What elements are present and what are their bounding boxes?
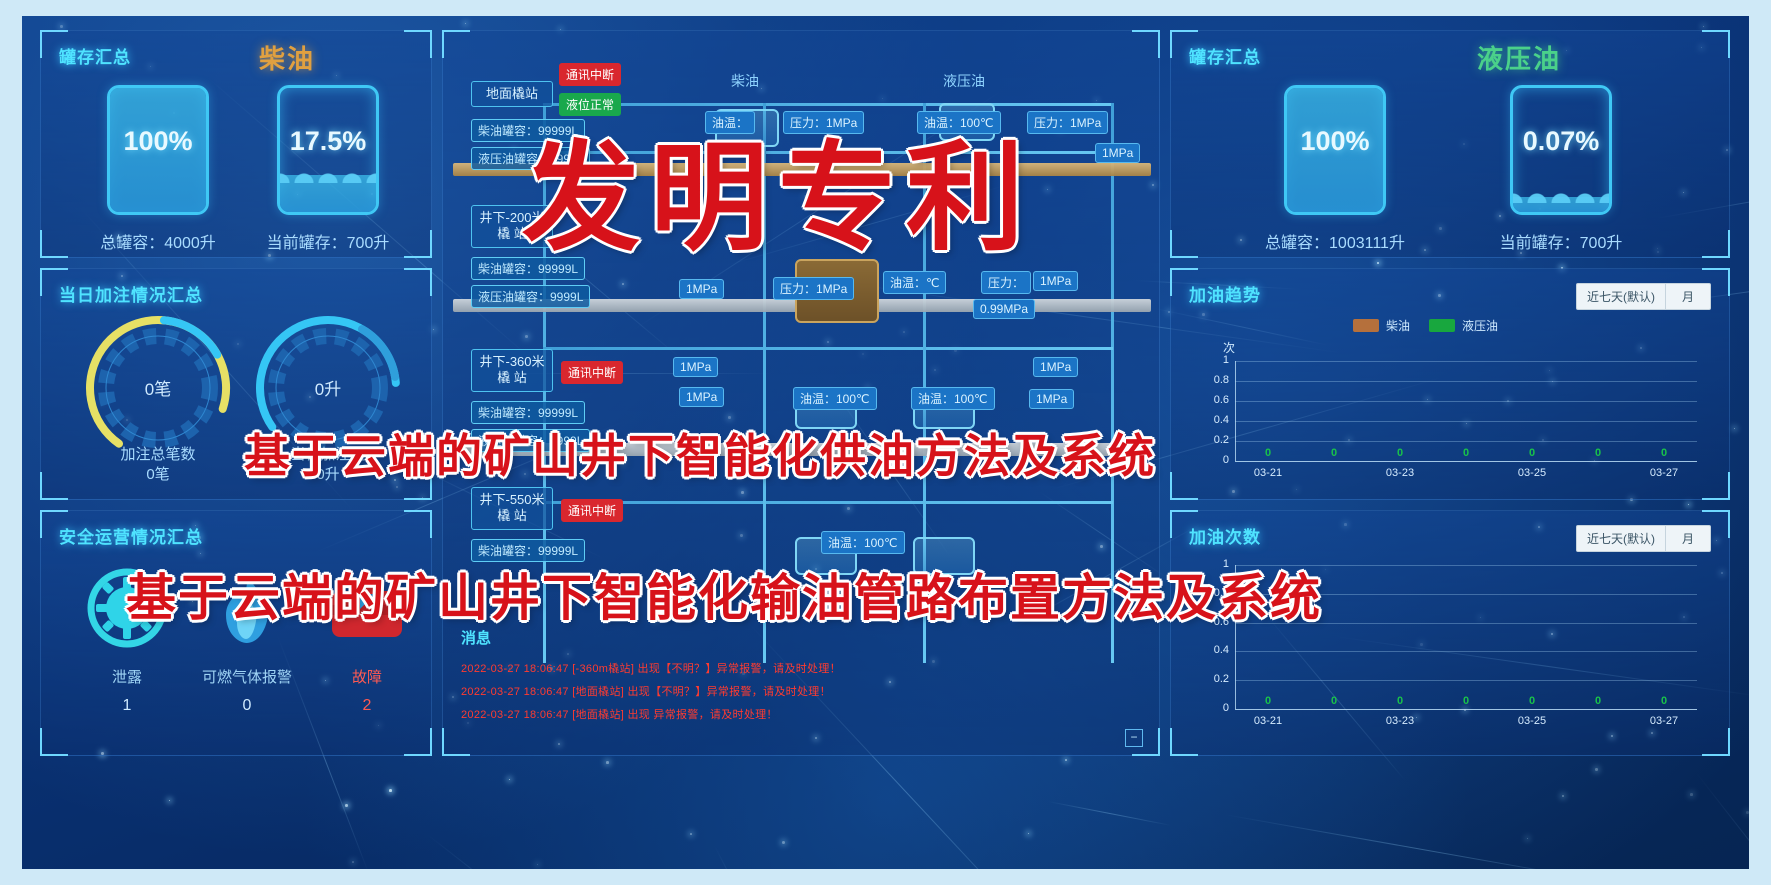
data-point-label: 0 [1454, 695, 1478, 707]
meter-6: 压力：1MPa [773, 277, 854, 300]
panel-title: 当日加注情况汇总 [59, 281, 203, 306]
safety-label: 泄露 [67, 666, 187, 687]
gauge-value: 0笔 [83, 375, 233, 400]
trend-legend: 柴油 液压油 [1353, 317, 1498, 334]
message-line: 2022-03-27 18:06:47 [地面橇站] 出现 异常报警，请及时处理… [461, 706, 1141, 722]
message-panel-title: 消息 [461, 627, 1141, 648]
gridline [1235, 651, 1697, 652]
legend-label-hydraulic: 液压油 [1462, 317, 1498, 334]
tank-shape: 100% [1284, 85, 1386, 215]
y-axis-tick: 0 [1191, 702, 1229, 714]
gauge-value: 0升 [253, 375, 403, 400]
station-2-status-0: 通讯中断 [561, 361, 623, 384]
x-axis-tick: 03-21 [1242, 715, 1294, 727]
x-axis-tick: 03-25 [1506, 715, 1558, 727]
tank-gauge-current: 0.07% 当前罐存：700升 [1461, 85, 1661, 253]
data-point-label: 0 [1322, 447, 1346, 459]
x-axis-line [1235, 461, 1697, 462]
tank-gauge-capacity: 100% 总罐容：4000升 [83, 85, 233, 253]
meter-3: 压力：1MPa [1027, 111, 1108, 134]
tank-fill [280, 175, 376, 212]
right-tank-summary-panel: 罐存汇总 液压油 100% 总罐容：1003111升 0.07% 当前罐存：70… [1170, 30, 1730, 258]
safety-value: 2 [307, 697, 427, 715]
x-axis-tick: 03-27 [1638, 715, 1690, 727]
y-axis-tick: 0 [1191, 454, 1229, 466]
station-0-status-0: 通讯中断 [559, 63, 621, 86]
tank-shape: 17.5% [277, 85, 379, 215]
range-option-month[interactable]: 月 [1666, 526, 1710, 551]
y-axis-tick: 0.8 [1191, 374, 1229, 386]
data-point-label: 0 [1322, 695, 1346, 707]
legend-swatch-hydraulic [1429, 319, 1455, 332]
station-name: 井下-360米 [479, 354, 544, 369]
x-axis-tick: 03-21 [1242, 467, 1294, 479]
trend-range-selector[interactable]: 近七天(默认) 月 [1576, 283, 1711, 310]
panel-title: 加油趋势 [1189, 281, 1261, 306]
gridline [1235, 421, 1697, 422]
tank-shape: 100% [107, 85, 209, 215]
fill-gauge-count-caption: 加注总笔数 0笔 [83, 445, 233, 486]
data-point-label: 0 [1652, 695, 1676, 707]
tank-percent: 100% [110, 126, 206, 157]
data-point-label: 0 [1256, 447, 1280, 459]
station-name: 井下-550米 [479, 492, 544, 507]
y-axis-tick: 0.6 [1191, 394, 1229, 406]
flow-label-diesel: 柴油 [731, 71, 759, 91]
data-point-label: 0 [1652, 447, 1676, 459]
caption-line-1: 加注总笔数 [83, 445, 233, 465]
panel-title: 罐存汇总 [1189, 43, 1261, 68]
data-point-label: 0 [1454, 447, 1478, 459]
tank-shape: 0.07% [1510, 85, 1612, 215]
y-axis-tick: 0.2 [1191, 673, 1229, 685]
gridline [1235, 441, 1697, 442]
safety-value: 0 [187, 697, 307, 715]
meter-12: 1MPa [679, 387, 724, 407]
meter-9: 0.99MPa [973, 299, 1035, 319]
data-point-label: 0 [1256, 695, 1280, 707]
tank-percent: 0.07% [1513, 126, 1609, 157]
station-name: 地面橇站 [486, 86, 538, 101]
left-safety-panel: 安全运营情况汇总 泄露 1 [40, 510, 432, 756]
message-line: 2022-03-27 18:06:47 [地面橇站] 出现【不明？】异常报警，请… [461, 683, 1141, 699]
gridline [1235, 680, 1697, 681]
station-1-readout-1: 液压油罐容：9999L [471, 285, 590, 308]
right-count-panel: 加油次数 近七天(默认) 月 10.80.60.40.20000000003-2… [1170, 510, 1730, 756]
right-trend-panel: 加油趋势 近七天(默认) 月 柴油 液压油 次 10.80.60.40.2000… [1170, 268, 1730, 500]
tank-percent: 17.5% [280, 126, 376, 157]
tank-caption: 总罐容：4000升 [83, 229, 233, 253]
y-axis-line [1235, 361, 1236, 461]
data-point-label: 0 [1586, 447, 1610, 459]
count-range-selector[interactable]: 近七天(默认) 月 [1576, 525, 1711, 552]
x-axis-tick: 03-23 [1374, 715, 1426, 727]
tank-caption: 当前罐存：700升 [1461, 229, 1661, 253]
dashboard-screen: 罐存汇总 柴油 100% 总罐容：4000升 17.5% 当前罐存：700升 当… [22, 16, 1749, 869]
station-name-2: 橇 站 [497, 370, 527, 385]
safety-label: 故障 [307, 666, 427, 687]
collapse-icon[interactable]: − [1125, 729, 1143, 747]
meter-16: 1MPa [1029, 389, 1074, 409]
tank-percent: 100% [1287, 126, 1383, 157]
range-option-week[interactable]: 近七天(默认) [1577, 526, 1666, 551]
overlay-patent-title: 发明专利 [522, 102, 1034, 273]
data-point-label: 0 [1520, 447, 1544, 459]
panel-title: 罐存汇总 [59, 43, 131, 68]
trend-line-chart: 10.80.60.40.20000000003-2103-2303-2503-2… [1191, 355, 1711, 487]
y-axis-tick: 0.2 [1191, 434, 1229, 446]
meter-15: 油温：100℃ [911, 387, 995, 410]
x-axis-tick: 03-25 [1506, 467, 1558, 479]
tank-gauge-capacity: 100% 总罐容：1003111升 [1235, 85, 1435, 253]
safety-label: 可燃气体报警 [187, 666, 307, 687]
safety-value: 1 [67, 697, 187, 715]
message-line: 2022-03-27 18:06:47 [-360m橇站] 出现【不明？】异常报… [461, 660, 1141, 676]
legend-label-diesel: 柴油 [1386, 317, 1410, 334]
x-axis-tick: 03-27 [1638, 467, 1690, 479]
tank-wave [1510, 185, 1612, 203]
x-axis-tick: 03-23 [1374, 467, 1426, 479]
range-option-month[interactable]: 月 [1666, 284, 1710, 309]
range-option-week[interactable]: 近七天(默认) [1577, 284, 1666, 309]
meter-11: 1MPa [673, 357, 718, 377]
message-panel: 消息 2022-03-27 18:06:47 [-360m橇站] 出现【不明？】… [461, 627, 1141, 729]
legend-swatch-diesel [1353, 319, 1379, 332]
meter-13: 1MPa [1033, 357, 1078, 377]
caption-line-2: 0笔 [83, 465, 233, 485]
oil-type-label: 柴油 [259, 39, 315, 76]
y-axis-tick: 0.4 [1191, 644, 1229, 656]
oil-type-label: 液压油 [1477, 39, 1561, 76]
station-box-3[interactable]: 井下-550米 橇 站 [471, 487, 553, 530]
overlay-patent-line-2: 基于云端的矿山井下智能化输油管路布置方法及系统 [126, 558, 1322, 630]
tank-fill [1513, 197, 1609, 212]
meter-8: 压力： [981, 271, 1031, 294]
y-axis-tick: 1 [1191, 354, 1229, 366]
meter-4: 1MPa [1095, 143, 1140, 163]
meter-14: 油温：100℃ [793, 387, 877, 410]
data-point-label: 0 [1388, 447, 1412, 459]
station-name-2: 橇 站 [497, 508, 527, 523]
overlay-patent-line-1: 基于云端的矿山井下智能化供油方法及系统 [244, 420, 1156, 486]
data-point-label: 0 [1586, 695, 1610, 707]
flow-label-hydraulic: 液压油 [943, 71, 985, 91]
station-box-2[interactable]: 井下-360米 橇 站 [471, 349, 553, 392]
tank-gauge-current: 17.5% 当前罐存：700升 [253, 85, 403, 253]
meter-10: 1MPa [1033, 271, 1078, 291]
gridline [1235, 401, 1697, 402]
panel-title: 安全运营情况汇总 [59, 523, 203, 548]
meter-7: 油温：℃ [883, 271, 946, 294]
tank-caption: 当前罐存：700升 [253, 229, 403, 253]
meter-5: 1MPa [679, 279, 724, 299]
meter-17: 油温：100℃ [821, 531, 905, 554]
fill-gauge-count: 0笔 [83, 313, 233, 463]
screenshot-root: 罐存汇总 柴油 100% 总罐容：4000升 17.5% 当前罐存：700升 当… [0, 0, 1771, 885]
panel-title: 加油次数 [1189, 523, 1261, 548]
data-point-label: 0 [1388, 695, 1412, 707]
data-point-label: 0 [1520, 695, 1544, 707]
station-3-status-0: 通讯中断 [561, 499, 623, 522]
gridline [1235, 381, 1697, 382]
tank-caption: 总罐容：1003111升 [1235, 229, 1435, 253]
tank-wave [277, 165, 379, 183]
y-axis-tick: 0.4 [1191, 414, 1229, 426]
x-axis-line [1235, 709, 1697, 710]
gridline [1235, 361, 1697, 362]
left-tank-summary-panel: 罐存汇总 柴油 100% 总罐容：4000升 17.5% 当前罐存：700升 [40, 30, 432, 258]
